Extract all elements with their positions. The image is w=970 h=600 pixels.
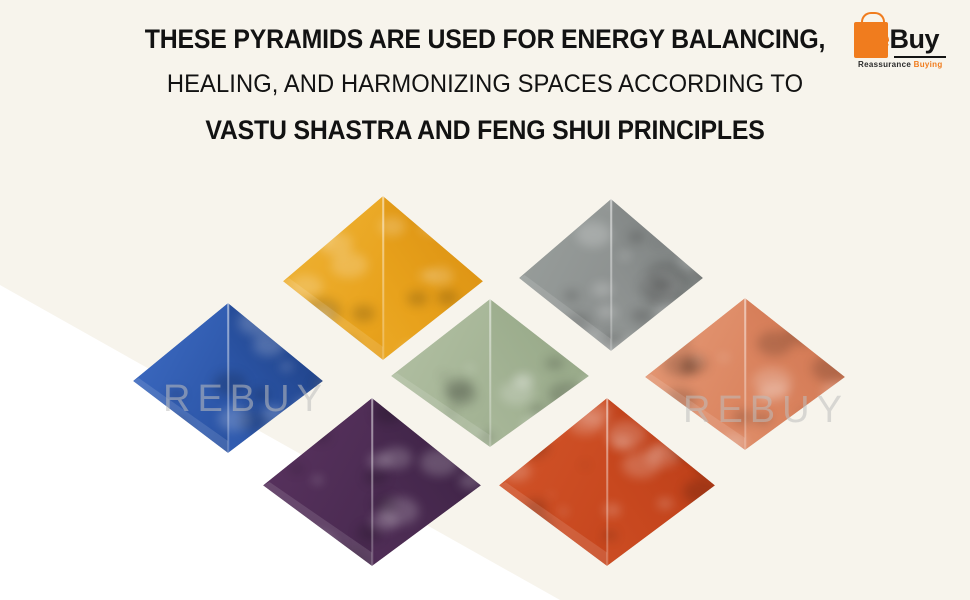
stone-texture-speck xyxy=(688,438,727,465)
stone-texture-speck xyxy=(285,311,301,322)
stone-texture-speck xyxy=(451,445,481,466)
stone-texture-speck xyxy=(552,549,567,559)
stone-texture-speck xyxy=(415,203,445,224)
stone-texture-speck xyxy=(454,516,465,524)
stone-texture-speck xyxy=(520,223,543,239)
stone-texture-speck xyxy=(576,222,611,246)
stone-texture-speck xyxy=(291,436,305,446)
stone-texture-speck xyxy=(406,405,415,411)
stone-texture-speck xyxy=(292,332,331,360)
stone-texture-speck xyxy=(619,252,631,260)
stone-texture-speck xyxy=(667,325,676,331)
stone-texture-speck xyxy=(381,447,412,469)
stone-texture-speck xyxy=(548,382,583,407)
stone-texture-speck xyxy=(786,322,818,344)
pyramid-edge-ridge xyxy=(489,299,491,447)
rebuy-watermark: REBUY xyxy=(683,389,849,432)
stone-texture-speck xyxy=(327,204,333,208)
stone-texture-speck xyxy=(364,469,387,485)
stone-texture-speck xyxy=(440,373,447,378)
stone-texture-speck xyxy=(683,479,720,505)
stone-texture-speck xyxy=(312,476,323,484)
promo-banner: ReBuy Reassurance Buying THESE PYRAMIDS … xyxy=(0,0,970,600)
headline-block: THESE PYRAMIDS ARE USED FOR ENERGY BALAN… xyxy=(0,26,970,144)
stone-texture-speck xyxy=(475,248,481,252)
pyramid-edge-ridge xyxy=(606,398,608,566)
stone-texture-speck xyxy=(253,334,285,356)
stone-texture-speck xyxy=(373,403,402,423)
stone-texture-speck xyxy=(371,512,398,531)
stone-texture-speck xyxy=(661,319,682,334)
stone-texture-speck xyxy=(564,390,587,406)
stone-texture-speck xyxy=(622,452,660,479)
stone-texture-speck xyxy=(505,541,534,561)
stone-texture-speck xyxy=(352,305,375,321)
stone-texture-speck xyxy=(559,508,569,515)
stone-texture-speck xyxy=(500,381,534,405)
stone-texture-speck xyxy=(295,332,301,336)
stone-texture-speck xyxy=(372,495,397,513)
stone-texture-speck xyxy=(586,378,594,384)
stone-texture-speck xyxy=(545,357,563,370)
pyramid-edge-ridge xyxy=(371,398,373,566)
pyramid-edge-ridge xyxy=(382,196,384,360)
stone-texture-speck xyxy=(614,336,651,362)
stone-texture-speck xyxy=(655,301,685,322)
stone-texture-speck xyxy=(333,337,358,355)
stone-texture-speck xyxy=(331,252,369,278)
stone-texture-speck xyxy=(419,215,447,235)
stone-texture-speck xyxy=(515,434,549,458)
stone-texture-speck xyxy=(670,305,708,331)
stone-texture-speck xyxy=(238,308,278,336)
pyramid-edge-ridge xyxy=(610,199,612,351)
stone-texture-speck xyxy=(612,435,633,449)
rebuy-watermark: REBUY xyxy=(163,378,329,421)
stone-texture-speck xyxy=(668,428,676,433)
stone-texture-speck xyxy=(530,404,546,416)
stone-texture-speck xyxy=(580,377,600,391)
stone-texture-speck xyxy=(328,348,356,368)
headline-line-3: VASTU SHASTRA AND FENG SHUI PRINCIPLES xyxy=(39,117,931,144)
gray-labradorite-pyramid[interactable] xyxy=(519,199,703,351)
headline-line-2: HEALING, AND HARMONIZING SPACES ACCORDIN… xyxy=(24,72,946,97)
stone-texture-speck xyxy=(545,226,556,234)
stone-texture-speck xyxy=(437,290,458,305)
stone-texture-speck xyxy=(696,456,728,478)
stone-texture-speck xyxy=(787,299,815,318)
stone-texture-speck xyxy=(453,442,469,453)
stone-texture-speck xyxy=(631,309,652,324)
stone-texture-speck xyxy=(312,430,330,442)
stone-texture-speck xyxy=(639,276,670,297)
stone-texture-speck xyxy=(502,461,530,481)
stone-texture-speck xyxy=(290,464,303,473)
headline-line-1: THESE PYRAMIDS ARE USED FOR ENERGY BALAN… xyxy=(39,26,931,53)
stone-texture-speck xyxy=(420,449,459,476)
stone-texture-speck xyxy=(698,264,722,281)
stone-texture-speck xyxy=(446,384,477,406)
stone-texture-speck xyxy=(407,291,428,306)
stone-texture-speck xyxy=(645,395,672,414)
stone-texture-speck xyxy=(464,210,481,222)
stone-texture-speck xyxy=(420,417,439,430)
stone-texture-speck xyxy=(812,355,851,382)
stone-texture-speck xyxy=(452,217,469,229)
stone-texture-speck xyxy=(758,449,790,471)
stone-texture-speck xyxy=(628,231,645,243)
stone-texture-speck xyxy=(522,414,557,439)
stone-texture-speck xyxy=(268,426,274,430)
stone-texture-speck xyxy=(313,335,335,350)
stone-texture-speck xyxy=(597,305,617,319)
stone-texture-speck xyxy=(564,290,579,301)
